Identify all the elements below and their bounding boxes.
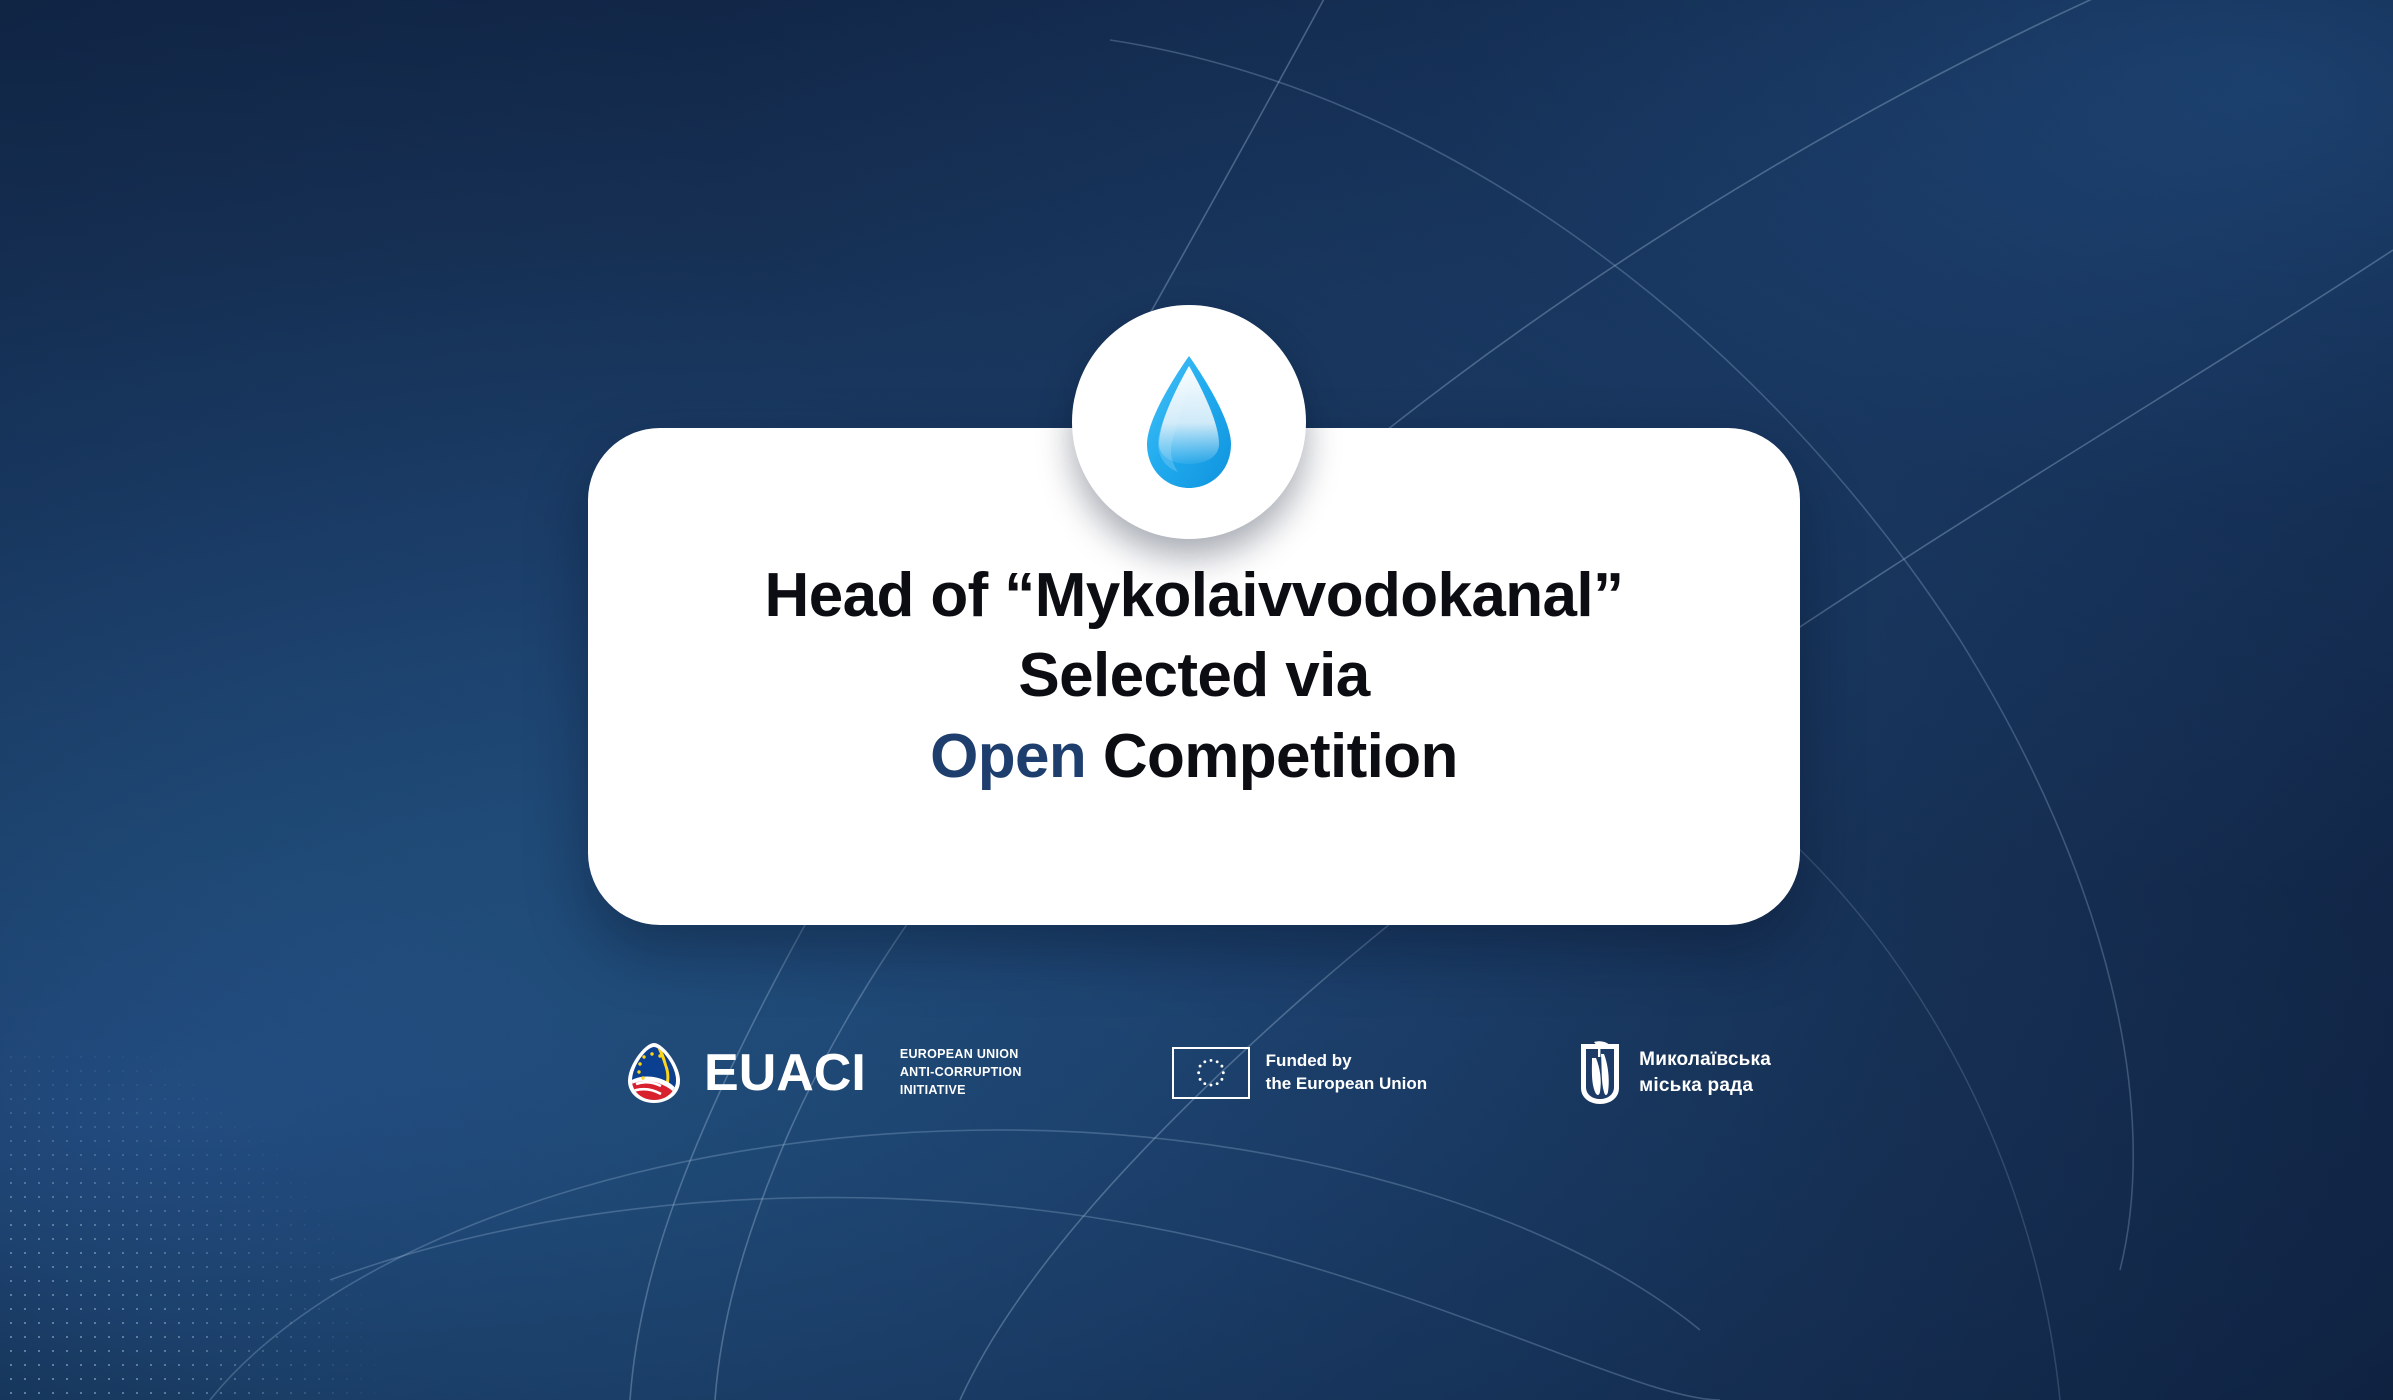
eu-funding-line-1: Funded by — [1266, 1050, 1428, 1073]
headline-line-1: Head of “Mykolaivvodokanal” — [765, 556, 1624, 637]
eu-funding-line-2: the European Union — [1266, 1073, 1428, 1096]
headline-line-3-rest: Competition — [1086, 722, 1458, 791]
page-title: Head of “Mykolaivvodokanal” Selected via… — [765, 556, 1624, 798]
partner-logos: EUACI EUROPEAN UNION ANTI-CORRUPTION INI… — [0, 1040, 2393, 1106]
water-droplet-icon — [1133, 352, 1245, 492]
mykolaiv-line-1: Миколаївська — [1639, 1047, 1771, 1073]
mykolaiv-text: Миколаївська міська рада — [1639, 1047, 1771, 1099]
poster-canvas: Head of “Mykolaivvodokanal” Selected via… — [0, 0, 2393, 1400]
euaci-subtitle-line-2: ANTI-CORRUPTION — [900, 1064, 1022, 1082]
euaci-emblem-icon — [622, 1041, 686, 1105]
eu-stars-circle-icon — [1174, 1049, 1248, 1098]
euaci-subtitle: EUROPEAN UNION ANTI-CORRUPTION INITIATIV… — [886, 1046, 1022, 1099]
logo-eu-funding: Funded by the European Union — [1172, 1047, 1428, 1099]
headline-line-3: Open Competition — [765, 717, 1624, 798]
euaci-subtitle-line-1: EUROPEAN UNION — [900, 1046, 1022, 1064]
eu-flag-icon — [1172, 1047, 1250, 1099]
logo-mykolaiv-city-council: Миколаївська міська рада — [1577, 1040, 1771, 1106]
headline-line-2: Selected via — [765, 636, 1624, 717]
mykolaiv-coat-of-arms-icon — [1577, 1040, 1623, 1106]
water-droplet-badge — [1072, 305, 1306, 539]
mykolaiv-line-2: міська рада — [1639, 1073, 1771, 1099]
eu-funding-text: Funded by the European Union — [1266, 1050, 1428, 1096]
euaci-wordmark: EUACI — [704, 1047, 868, 1099]
headline-accent-word: Open — [930, 722, 1086, 791]
logo-euaci: EUACI EUROPEAN UNION ANTI-CORRUPTION INI… — [622, 1041, 1022, 1105]
euaci-subtitle-line-3: INITIATIVE — [900, 1082, 1022, 1100]
